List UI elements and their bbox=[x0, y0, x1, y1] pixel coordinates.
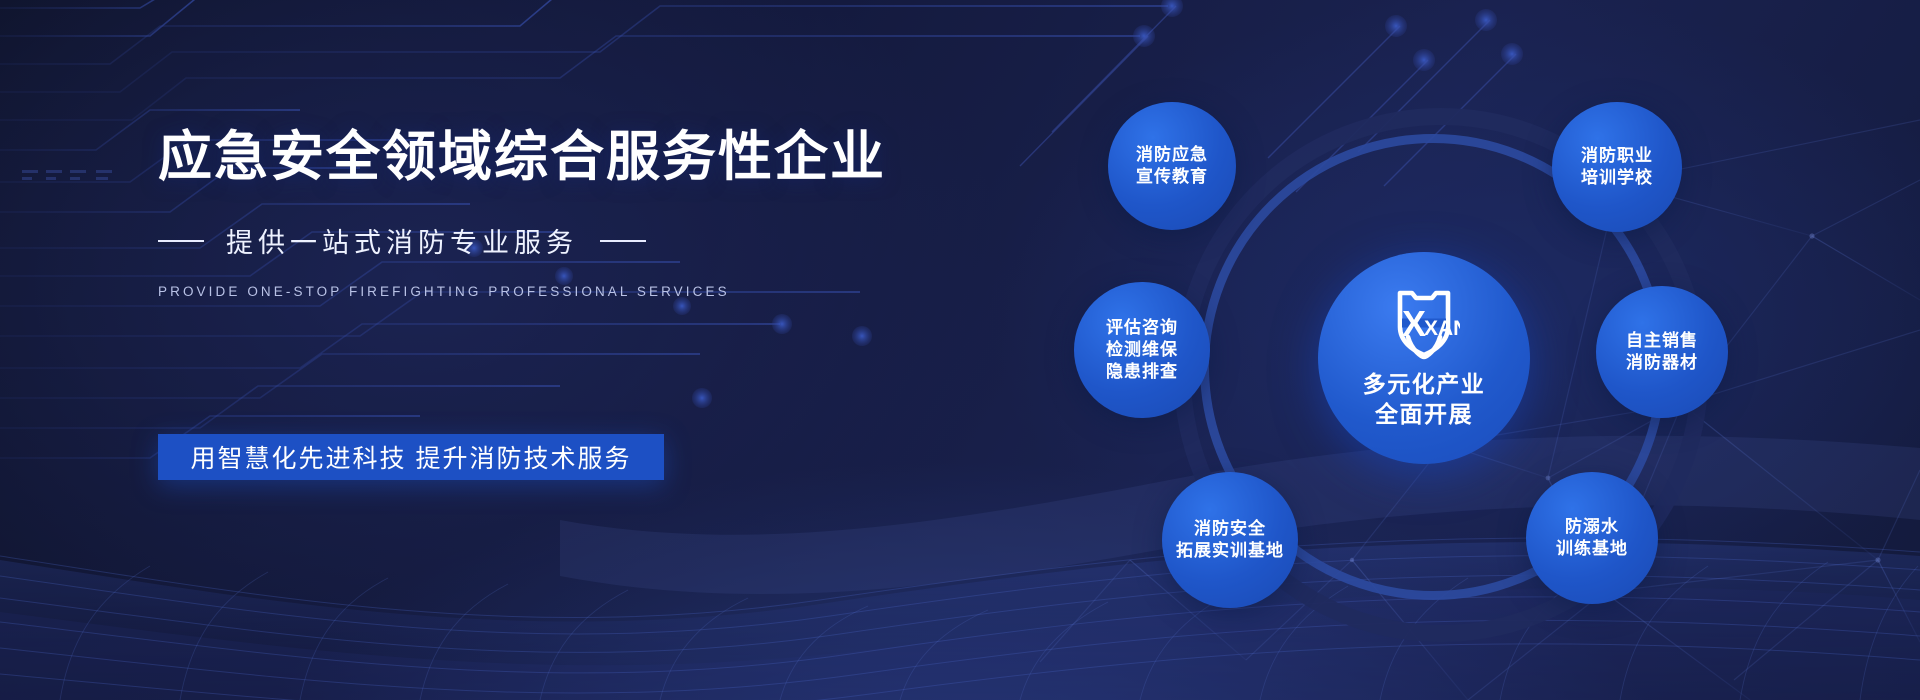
hero-subline: 提供一站式消防专业服务 bbox=[158, 221, 878, 260]
dash-right-icon bbox=[600, 240, 646, 242]
dash-left-icon bbox=[158, 240, 204, 242]
node-training-school[interactable]: 消防职业 培训学校 bbox=[1552, 102, 1682, 232]
hero-subline-text: 提供一站式消防专业服务 bbox=[226, 221, 578, 260]
node-safety-base-line1: 消防安全 bbox=[1194, 518, 1266, 540]
node-publicity[interactable]: 消防应急 宣传教育 bbox=[1108, 102, 1236, 230]
node-sales-line2: 消防器材 bbox=[1626, 352, 1698, 374]
cta-button[interactable]: 用智慧化先进科技 提升消防技术服务 bbox=[158, 434, 664, 480]
node-drowning-base-line2: 训练基地 bbox=[1556, 538, 1628, 560]
hero-english-subtitle: PROVIDE ONE-STOP FIREFIGHTING PROFESSION… bbox=[158, 284, 878, 299]
node-drowning-base-line1: 防溺水 bbox=[1565, 516, 1619, 538]
node-assessment-line2: 检测维保 bbox=[1106, 339, 1178, 361]
node-training-school-line2: 培训学校 bbox=[1581, 167, 1653, 189]
page-title: 应急安全领域综合服务性企业 bbox=[158, 128, 878, 187]
node-safety-base-line2: 拓展实训基地 bbox=[1176, 540, 1284, 562]
node-assessment-line3: 隐患排查 bbox=[1106, 361, 1178, 383]
business-orbit-diagram: X XAN 多元化产业 全面开展 消防应急 宣传教育 消防职业 培训学校 评估咨… bbox=[1122, 84, 1762, 624]
node-sales-line1: 自主销售 bbox=[1626, 330, 1698, 352]
hero-copy: 应急安全领域综合服务性企业 提供一站式消防专业服务 PROVIDE ONE-ST… bbox=[158, 128, 878, 299]
node-center-line1: 多元化产业 bbox=[1363, 370, 1486, 399]
node-center-line2: 全面开展 bbox=[1375, 400, 1473, 429]
node-publicity-line2: 宣传教育 bbox=[1136, 166, 1208, 188]
node-sales[interactable]: 自主销售 消防器材 bbox=[1596, 286, 1728, 418]
node-drowning-base[interactable]: 防溺水 训练基地 bbox=[1526, 472, 1658, 604]
hero-banner: 应急安全领域综合服务性企业 提供一站式消防专业服务 PROVIDE ONE-ST… bbox=[0, 0, 1920, 700]
shield-logo-icon: X XAN bbox=[1388, 287, 1460, 361]
node-safety-base[interactable]: 消防安全 拓展实训基地 bbox=[1162, 472, 1298, 608]
node-publicity-line1: 消防应急 bbox=[1136, 144, 1208, 166]
node-assessment-line1: 评估咨询 bbox=[1106, 317, 1178, 339]
svg-text:X: X bbox=[1402, 303, 1426, 344]
node-center[interactable]: X XAN 多元化产业 全面开展 bbox=[1318, 252, 1530, 464]
node-training-school-line1: 消防职业 bbox=[1581, 145, 1653, 167]
node-assessment[interactable]: 评估咨询 检测维保 隐患排查 bbox=[1074, 282, 1210, 418]
